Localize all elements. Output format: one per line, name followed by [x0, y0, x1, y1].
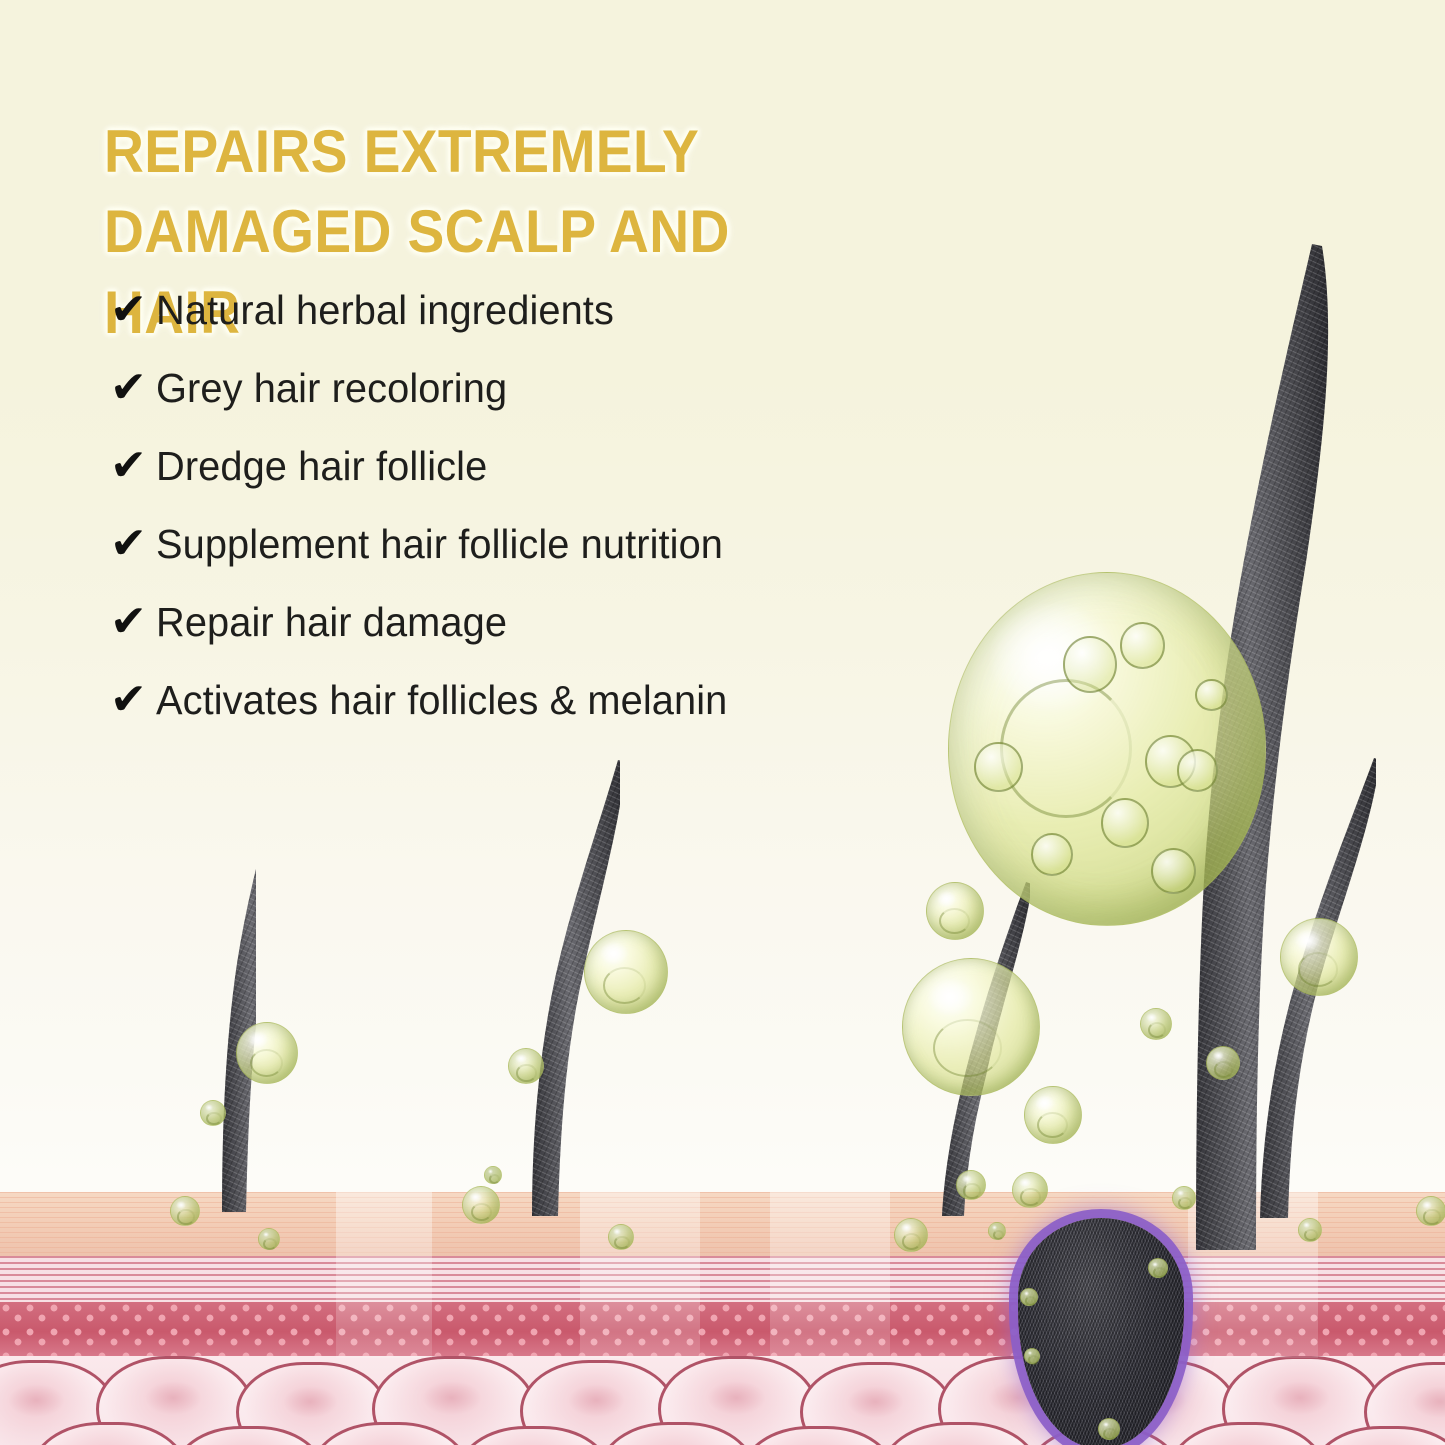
serum-bubble: [894, 1218, 928, 1252]
serum-bubble: [1024, 1348, 1040, 1364]
benefit-label: Natural herbal ingredients: [156, 290, 614, 331]
list-item: ✔ Natural herbal ingredients: [110, 288, 930, 366]
product-benefit-graphic: REPAIRS EXTREMELY DAMAGED SCALP AND HAIR…: [0, 0, 1445, 1445]
skin-layer-subcutaneous-fat: [0, 1356, 1445, 1445]
serum-bubble: [584, 930, 668, 1014]
hair-strand-left-shape: [196, 760, 256, 1212]
list-item: ✔ Supplement hair follicle nutrition: [110, 522, 930, 600]
check-icon: ✔: [110, 444, 156, 488]
skin-layer-dermis: [0, 1256, 1445, 1302]
serum-bubble: [988, 1222, 1006, 1240]
list-item: ✔ Activates hair follicles & melanin: [110, 678, 930, 756]
serum-bubble: [170, 1196, 200, 1226]
serum-bubble: [1140, 1008, 1172, 1040]
serum-bubble: [1098, 1418, 1120, 1440]
serum-bubble: [236, 1022, 298, 1084]
bubble-inner: [1120, 622, 1165, 668]
bubble-inner: [1177, 749, 1219, 792]
serum-bubble: [1416, 1196, 1445, 1226]
bubble-inner: [974, 742, 1022, 792]
serum-bubble-large: [948, 572, 1266, 926]
skin-layer-cellular-band: [0, 1302, 1445, 1356]
list-item: ✔ Grey hair recoloring: [110, 366, 930, 444]
bubble-inner-ring: [1000, 679, 1132, 819]
check-icon: ✔: [110, 288, 156, 332]
list-item: ✔ Repair hair damage: [110, 600, 930, 678]
serum-bubble: [1148, 1258, 1168, 1278]
serum-bubble: [200, 1100, 226, 1126]
benefit-label: Activates hair follicles & melanin: [156, 680, 727, 721]
benefit-label: Dredge hair follicle: [156, 446, 487, 487]
serum-bubble: [926, 882, 984, 940]
check-icon: ✔: [110, 600, 156, 644]
benefit-label: Supplement hair follicle nutrition: [156, 524, 723, 565]
serum-bubble: [608, 1224, 634, 1250]
bubble-inner: [1101, 798, 1149, 848]
check-icon: ✔: [110, 678, 156, 722]
bubble-inner: [1063, 636, 1118, 693]
serum-bubble: [484, 1166, 502, 1184]
serum-bubble: [1172, 1186, 1196, 1210]
serum-bubble: [1020, 1288, 1038, 1306]
check-icon: ✔: [110, 366, 156, 410]
list-item: ✔ Dredge hair follicle: [110, 444, 930, 522]
benefit-label: Grey hair recoloring: [156, 368, 507, 409]
serum-bubble: [902, 958, 1040, 1096]
serum-bubble: [1298, 1218, 1322, 1242]
serum-bubble: [1280, 918, 1358, 996]
serum-bubble: [258, 1228, 280, 1250]
serum-bubble: [956, 1170, 986, 1200]
serum-bubble: [1206, 1046, 1240, 1080]
serum-bubble: [508, 1048, 544, 1084]
hair-strand-left: [196, 760, 256, 1212]
serum-bubble: [1024, 1086, 1082, 1144]
serum-bubble: [462, 1186, 500, 1224]
benefits-list: ✔ Natural herbal ingredients ✔ Grey hair…: [110, 288, 930, 756]
benefit-label: Repair hair damage: [156, 602, 507, 643]
bubble-inner: [1151, 848, 1196, 894]
check-icon: ✔: [110, 522, 156, 566]
bubble-inner: [1031, 833, 1073, 876]
bubble-inner: [1195, 679, 1227, 711]
serum-bubble: [1012, 1172, 1048, 1208]
